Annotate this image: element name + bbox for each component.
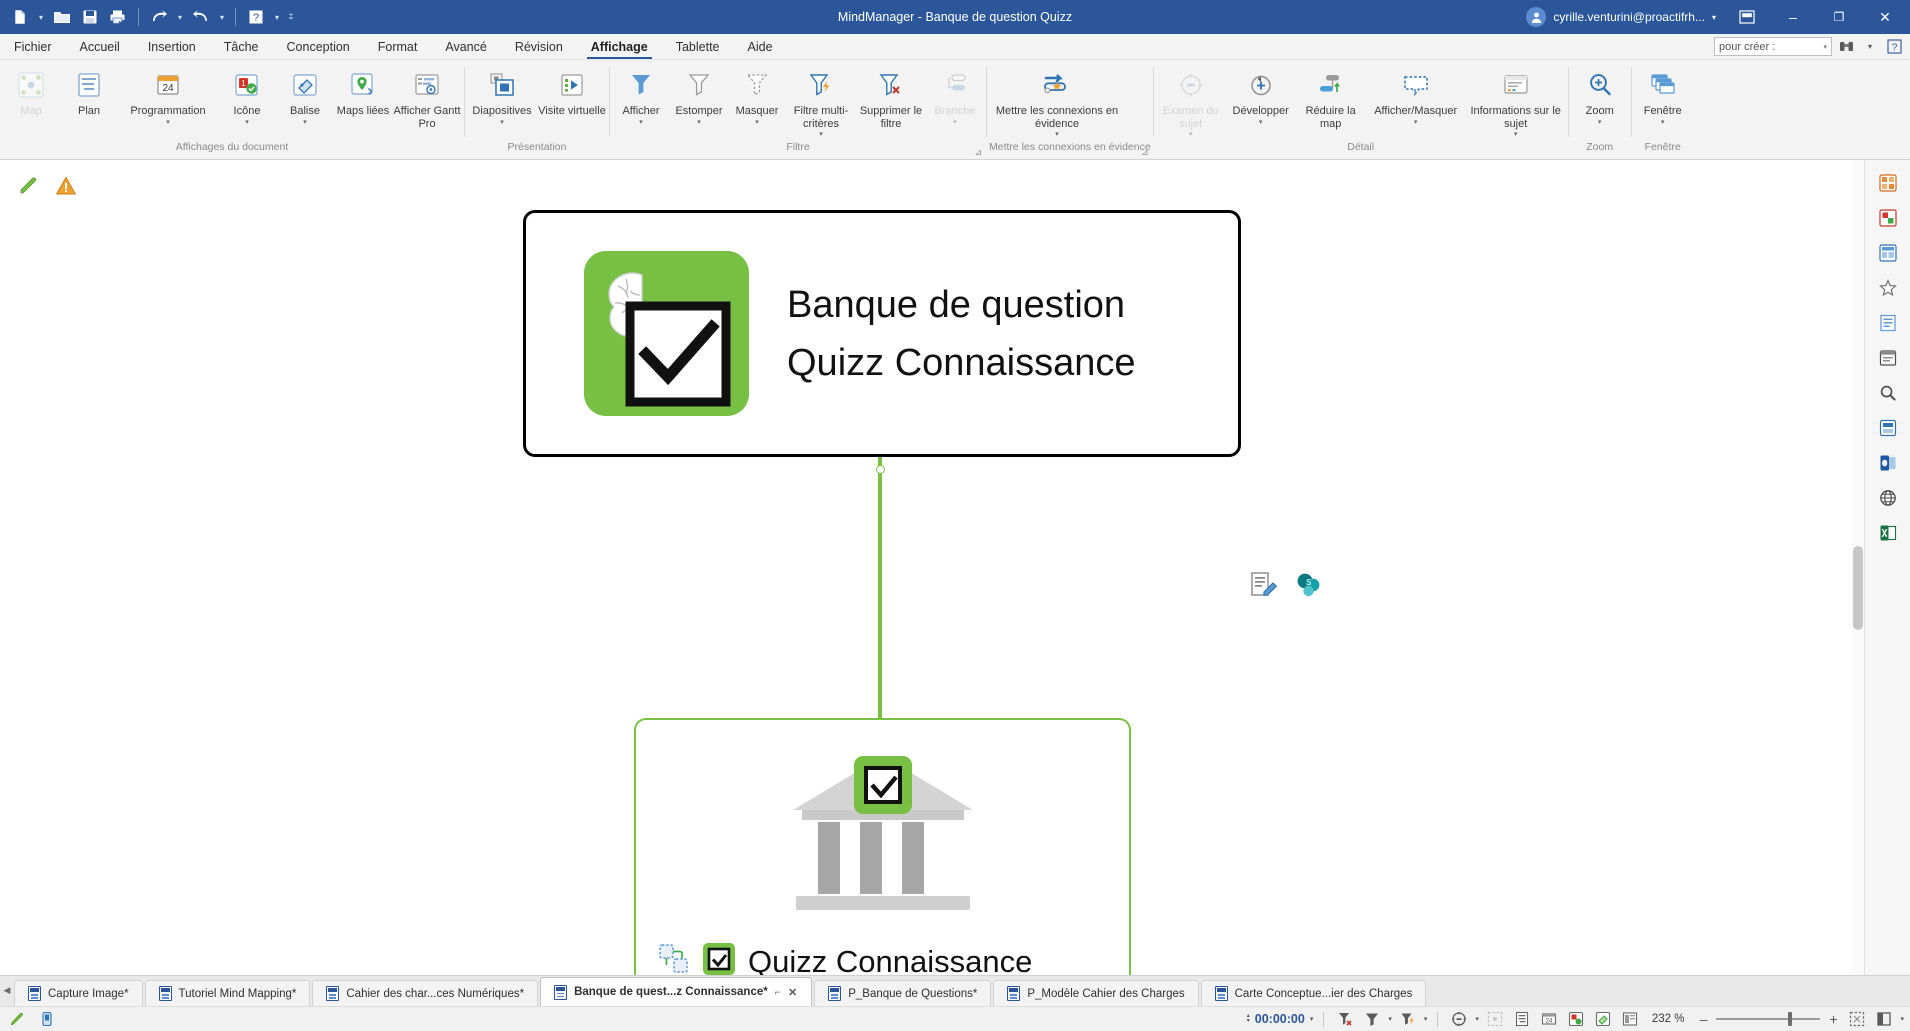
ribbon-button-reduire-la-map[interactable]: Réduire la map bbox=[1296, 65, 1366, 130]
help-caret[interactable]: ▾ bbox=[270, 4, 284, 30]
document-icon bbox=[326, 986, 339, 1001]
document-tab-label: P_Banque de Questions* bbox=[848, 988, 977, 1000]
zoom-percent-label: 232 % bbox=[1652, 1013, 1685, 1025]
root-topic-line-2: Quizz Connaissance bbox=[787, 334, 1136, 392]
status-separator-1 bbox=[1323, 1012, 1324, 1027]
document-tab-tutoriel-mind-mapping[interactable]: Tutoriel Mind Mapping* bbox=[145, 980, 311, 1006]
document-tab-p-modele-cahier-des-charges[interactable]: P_Modèle Cahier des Charges bbox=[993, 980, 1198, 1006]
ribbon-group-mettre-les-connexions-en-evidence: Mettre les connexions en évidence ▾ Mett… bbox=[987, 60, 1153, 159]
qat-separator-2 bbox=[235, 8, 236, 26]
zoom-out-button[interactable]: – bbox=[1695, 1011, 1711, 1027]
ribbon-group-detail: Examen du sujet ▾ Développer ▾ Réduire l… bbox=[1154, 60, 1568, 159]
document-tab-label: Cahier des char...ces Numériques* bbox=[346, 988, 524, 1000]
status-separator-2 bbox=[1437, 1012, 1438, 1027]
ribbon-button-branche[interactable]: Branche ▾ bbox=[926, 65, 984, 127]
ribbon-button-fenetre[interactable]: Fenêtre ▾ bbox=[1634, 65, 1692, 127]
touch-mode-button[interactable] bbox=[36, 1009, 58, 1029]
tab-format[interactable]: Format bbox=[364, 34, 432, 59]
touch-mode-icon bbox=[39, 1011, 55, 1027]
ribbon-label: Map bbox=[20, 105, 41, 118]
document-tab-carte-conceptuelle-cahier-des-charges[interactable]: Carte Conceptue...ier des Charges bbox=[1201, 980, 1427, 1006]
gantt-pro-icon bbox=[412, 68, 442, 102]
ribbon-label: Plan bbox=[78, 105, 100, 118]
ribbon-label: Estomper bbox=[675, 105, 722, 118]
ribbon-group-label: Zoom bbox=[1571, 138, 1629, 156]
properties-icon bbox=[1879, 349, 1897, 367]
calendar-24-icon: 24 bbox=[153, 68, 183, 102]
question-mark-icon: ? bbox=[248, 9, 264, 25]
map-canvas[interactable]: Banque de question Quizz Connaissance S bbox=[0, 160, 1864, 975]
windows-cascade-icon bbox=[1648, 68, 1678, 102]
connexions-dialog-launcher[interactable]: ⊿ bbox=[1141, 147, 1149, 158]
tab-aide[interactable]: Aide bbox=[734, 34, 787, 59]
qat-separator-1 bbox=[138, 8, 139, 26]
pen-highlighter-icon bbox=[17, 175, 39, 197]
tab-pin-icon[interactable]: ⌐ bbox=[775, 987, 780, 997]
save-disk-icon bbox=[82, 9, 98, 25]
slides-icon bbox=[487, 68, 517, 102]
ribbon-label: Zoom bbox=[1586, 105, 1614, 118]
outlook-icon bbox=[1879, 454, 1897, 472]
account-name: cyrille.venturini@proactifrh... bbox=[1553, 10, 1705, 24]
task-pane-library-button[interactable] bbox=[1875, 170, 1901, 196]
child-topic-node[interactable]: Quizz Connaissance bbox=[634, 718, 1131, 975]
print-document-button[interactable] bbox=[104, 4, 132, 30]
save-document-button[interactable] bbox=[76, 4, 104, 30]
ribbon-label: Mettre les connexions en évidence bbox=[990, 105, 1124, 130]
open-document-button[interactable] bbox=[48, 4, 76, 30]
document-icon bbox=[828, 986, 841, 1001]
document-tab-bar: ◀ Capture Image* Tutoriel Mind Mapping* … bbox=[0, 975, 1910, 1006]
document-tab-banque-de-question-quizz-connaissance[interactable]: Banque de quest...z Connaissance* ⌐ ✕ bbox=[540, 977, 812, 1006]
sharepoint-link-button[interactable]: S bbox=[1294, 570, 1324, 605]
svg-text:?: ? bbox=[1891, 43, 1897, 54]
power-filter-dropdown-caret[interactable]: ▾ bbox=[1424, 1015, 1428, 1023]
markers-icon bbox=[1879, 279, 1897, 297]
status-bar-right: ▴▾ 00:00:00 ▾ ▾ ▾ ▾ bbox=[1247, 1009, 1904, 1029]
fullscreen-icon bbox=[1876, 1011, 1892, 1027]
globe-icon bbox=[1879, 489, 1897, 507]
walkthrough-icon bbox=[557, 68, 587, 102]
account-button[interactable]: cyrille.venturini@proactifrh... ▾ bbox=[1518, 3, 1724, 31]
balance-map-button[interactable] bbox=[1448, 1009, 1470, 1029]
redo-arrow-icon bbox=[192, 9, 210, 25]
tag-view-button[interactable] bbox=[1592, 1009, 1614, 1029]
pen-mode-button[interactable] bbox=[6, 1009, 28, 1029]
warning-triangle-icon bbox=[55, 175, 77, 197]
ribbon-button-estomper[interactable]: Estomper ▾ bbox=[670, 65, 728, 127]
redo-button[interactable] bbox=[187, 4, 215, 30]
task-pane-outlook-button[interactable] bbox=[1875, 450, 1901, 476]
zoom-slider-thumb[interactable] bbox=[1788, 1012, 1792, 1026]
task-pane-markers-button[interactable] bbox=[1875, 275, 1901, 301]
canvas-quick-tools bbox=[16, 174, 78, 198]
excel-icon bbox=[1879, 524, 1897, 542]
root-topic-node[interactable]: Banque de question Quizz Connaissance bbox=[523, 210, 1241, 457]
tab-tablette[interactable]: Tablette bbox=[662, 34, 734, 59]
ribbon-label: Diapositives bbox=[472, 105, 531, 118]
task-pane-excel-button[interactable] bbox=[1875, 520, 1901, 546]
tab-scroll-prev-button[interactable]: ◀ bbox=[0, 975, 14, 1006]
pen-icon bbox=[9, 1011, 25, 1027]
quick-access-toolbar: ▾ ▾ ▾ ? ▾ ⩲ bbox=[0, 0, 298, 34]
show-hide-callout-icon bbox=[1400, 68, 1432, 102]
ribbon-label: Branche bbox=[935, 105, 976, 118]
icon-view-button[interactable] bbox=[1565, 1009, 1587, 1029]
ribbon-group-presentation: Diapositives ▾ Visite virtuelle Présenta… bbox=[465, 60, 609, 159]
search-icon bbox=[1879, 384, 1897, 402]
document-icon bbox=[159, 986, 172, 1001]
ribbon-display-options-button[interactable] bbox=[1724, 0, 1770, 34]
chevron-down-icon[interactable]: ▾ bbox=[245, 118, 249, 127]
ribbon-label: Développer bbox=[1233, 105, 1289, 118]
chevron-down-icon[interactable]: ▾ bbox=[166, 118, 170, 127]
slide-view-button[interactable] bbox=[1619, 1009, 1641, 1029]
document-icon bbox=[28, 986, 41, 1001]
avatar bbox=[1526, 7, 1546, 27]
filter-dropdown-caret[interactable]: ▾ bbox=[1388, 1015, 1392, 1023]
power-filter-status-button[interactable] bbox=[1397, 1009, 1419, 1029]
ribbon-group-affichages-du-document: Map Plan 24 Programmation ▾ bbox=[0, 60, 464, 159]
chevron-down-icon[interactable]: ▾ bbox=[303, 118, 307, 127]
funnel-filled-icon bbox=[626, 68, 656, 102]
close-button[interactable]: ✕ bbox=[1862, 0, 1908, 34]
task-pane-templates-button[interactable] bbox=[1875, 240, 1901, 266]
tab-conception[interactable]: Conception bbox=[273, 34, 364, 59]
tab-revision[interactable]: Révision bbox=[501, 34, 577, 59]
index-icon bbox=[1879, 314, 1897, 332]
map-parts-icon bbox=[1879, 209, 1897, 227]
search-binoculars-button[interactable] bbox=[1836, 37, 1856, 57]
ribbon-group-label: Mettre les connexions en évidence bbox=[989, 138, 1151, 156]
tab-fichier[interactable]: Fichier bbox=[0, 34, 66, 59]
chevron-down-icon[interactable]: ▾ bbox=[755, 118, 759, 127]
undo-caret[interactable]: ▾ bbox=[173, 4, 187, 30]
map-view-icon bbox=[16, 68, 46, 102]
chevron-down-icon[interactable]: ▾ bbox=[1414, 118, 1418, 127]
ribbon-group-zoom: Zoom ▾ Zoom bbox=[1569, 60, 1631, 159]
mindmanager-window: ▾ ▾ ▾ ? ▾ ⩲ Min bbox=[0, 0, 1910, 1031]
new-document-caret[interactable]: ▾ bbox=[34, 4, 48, 30]
chevron-down-icon[interactable]: ▾ bbox=[697, 118, 701, 127]
ribbon-group-label: Fenêtre bbox=[1634, 138, 1692, 156]
ribbon-label: Informations sur le sujet bbox=[1467, 105, 1565, 130]
minimize-button[interactable]: – bbox=[1770, 0, 1816, 34]
title-bar-right: cyrille.venturini@proactifrh... ▾ – ❐ ✕ bbox=[1518, 0, 1910, 34]
power-filter-icon bbox=[806, 68, 836, 102]
chevron-down-icon[interactable]: ▾ bbox=[1598, 118, 1602, 127]
ribbon-group-fenetre: Fenêtre ▾ Fenêtre bbox=[1632, 60, 1694, 159]
tab-avance[interactable]: Avancé bbox=[431, 34, 500, 59]
ribbon-label: Filtre multi-critères bbox=[787, 105, 855, 130]
task-pane-styles-button[interactable] bbox=[1875, 415, 1901, 441]
status-bar-left bbox=[6, 1009, 58, 1029]
printer-icon bbox=[109, 9, 127, 25]
title-bar: ▾ ▾ ▾ ? ▾ ⩲ Min bbox=[0, 0, 1910, 34]
document-tab-label: Tutoriel Mind Mapping* bbox=[179, 988, 297, 1000]
new-document-button[interactable] bbox=[6, 4, 34, 30]
expand-icon bbox=[1246, 68, 1276, 102]
ribbon-button-filtre-multi-criteres[interactable]: Filtre multi-critères ▾ bbox=[786, 65, 856, 139]
tab-close-icon[interactable]: ✕ bbox=[787, 986, 798, 999]
document-tab-cahier-des-charges-numeriques[interactable]: Cahier des char...ces Numériques* bbox=[312, 980, 538, 1006]
svg-text:24: 24 bbox=[162, 83, 174, 94]
ribbon-label: Afficher bbox=[622, 105, 659, 118]
ribbon-label: Programmation bbox=[130, 105, 205, 118]
tag-icon bbox=[290, 68, 320, 102]
filter-status-button[interactable] bbox=[1361, 1009, 1383, 1029]
redo-caret[interactable]: ▾ bbox=[215, 4, 229, 30]
pen-highlighter-button[interactable] bbox=[16, 174, 40, 198]
brain-checkbox-green-icon bbox=[584, 251, 749, 416]
styles-icon bbox=[1879, 419, 1897, 437]
ribbon-button-afficher-gantt-pro[interactable]: Afficher Gantt Pro bbox=[392, 65, 462, 130]
document-icon bbox=[554, 985, 567, 1000]
ribbon-button-programmation[interactable]: 24 Programmation ▾ bbox=[118, 65, 218, 127]
chevron-down-icon[interactable]: ▾ bbox=[500, 118, 504, 127]
fullscreen-button[interactable] bbox=[1873, 1009, 1895, 1029]
ribbon-group-label: Détail bbox=[1156, 138, 1566, 156]
document-tab-p-banque-de-questions[interactable]: P_Banque de Questions* bbox=[814, 980, 991, 1006]
fit-page-button[interactable] bbox=[1846, 1009, 1868, 1029]
binoculars-icon bbox=[1839, 40, 1854, 53]
bank-building-icon bbox=[788, 748, 978, 923]
ribbon-group-label: Affichages du document bbox=[2, 138, 462, 156]
gantt-24-icon: 24 bbox=[1541, 1011, 1557, 1027]
ribbon-group-label: Filtre bbox=[612, 138, 984, 156]
fullscreen-dropdown-caret[interactable]: ▾ bbox=[1900, 1015, 1904, 1023]
task-pane-index-button[interactable] bbox=[1875, 310, 1901, 336]
ribbon-button-masquer[interactable]: Masquer ▾ bbox=[728, 65, 786, 127]
tell-me-box[interactable]: pour créer : ▾ bbox=[1714, 37, 1832, 56]
chevron-down-icon[interactable]: ▾ bbox=[953, 118, 957, 127]
templates-icon bbox=[1879, 244, 1897, 262]
tab-accueil[interactable]: Accueil bbox=[66, 34, 134, 59]
tab-tache[interactable]: Tâche bbox=[210, 34, 273, 59]
fit-map-button[interactable] bbox=[1484, 1009, 1506, 1029]
chevron-down-icon[interactable]: ▾ bbox=[1259, 118, 1263, 127]
funnel-dashed-icon bbox=[742, 68, 772, 102]
zoom-slider-track[interactable] bbox=[1716, 1018, 1820, 1020]
ribbon-display-options-icon bbox=[1739, 10, 1755, 24]
relationship-marker-icon[interactable] bbox=[658, 943, 690, 975]
timer-spinner[interactable]: ▴▾ bbox=[1247, 1014, 1250, 1024]
funnel-outline-icon bbox=[684, 68, 714, 102]
ribbon-label: Afficher Gantt Pro bbox=[393, 105, 461, 130]
ribbon-button-developper[interactable]: Développer ▾ bbox=[1226, 65, 1296, 127]
tell-me-placeholder: pour créer : bbox=[1719, 41, 1775, 53]
svg-text:S: S bbox=[1306, 578, 1311, 587]
document-tab-label: Capture Image* bbox=[48, 988, 129, 1000]
funnel-icon bbox=[1364, 1011, 1380, 1027]
ribbon-button-afficher-masquer[interactable]: Afficher/Masquer ▾ bbox=[1366, 65, 1466, 127]
ribbon-group-filtre: Afficher ▾ Estomper ▾ Masquer ▾ bbox=[610, 60, 986, 159]
undo-button[interactable] bbox=[145, 4, 173, 30]
document-icon bbox=[1215, 986, 1228, 1001]
document-tab-capture-image[interactable]: Capture Image* bbox=[14, 980, 143, 1006]
document-tab-label: Banque de quest...z Connaissance* bbox=[574, 986, 768, 998]
note-edit-icon bbox=[1248, 570, 1278, 600]
outline-icon bbox=[1514, 1011, 1530, 1027]
svg-text:1: 1 bbox=[241, 79, 246, 88]
topic-info-icon bbox=[1501, 68, 1531, 102]
chevron-down-icon[interactable]: ▾ bbox=[639, 118, 643, 127]
warning-indicator-button[interactable] bbox=[54, 174, 78, 198]
new-document-icon bbox=[12, 9, 28, 25]
chevron-down-icon[interactable]: ▾ bbox=[1189, 130, 1193, 139]
ribbon-button-supprimer-le-filtre[interactable]: Supprimer le filtre bbox=[856, 65, 926, 130]
ribbon-label: Maps liées bbox=[337, 105, 390, 118]
document-tab-label: P_Modèle Cahier des Charges bbox=[1027, 988, 1184, 1000]
gantt-view-button[interactable]: 24 bbox=[1538, 1009, 1560, 1029]
child-topic-title: Quizz Connaissance bbox=[748, 944, 1032, 976]
ribbon-label: Réduire la map bbox=[1297, 105, 1365, 130]
svg-text:?: ? bbox=[253, 12, 259, 24]
task-pane-search-button[interactable] bbox=[1875, 380, 1901, 406]
timer-dropdown-caret[interactable]: ▾ bbox=[1310, 1015, 1314, 1023]
clear-filter-icon bbox=[1337, 1011, 1353, 1027]
ribbon-button-plan[interactable]: Plan bbox=[60, 65, 118, 118]
ribbon-button-mettre-les-connexions-en-evidence[interactable]: Mettre les connexions en évidence ▾ bbox=[989, 65, 1125, 139]
zoom-in-magnifier-icon bbox=[1585, 68, 1615, 102]
chevron-down-icon: ▾ bbox=[1712, 13, 1716, 22]
ribbon-tab-strip: Fichier Accueil Insertion Tâche Concepti… bbox=[0, 34, 1910, 60]
chevron-down-icon[interactable]: ▾ bbox=[1661, 118, 1665, 127]
status-bar: ▴▾ 00:00:00 ▾ ▾ ▾ ▾ bbox=[0, 1006, 1910, 1031]
document-icon bbox=[1007, 986, 1020, 1001]
ribbon-label: Visite virtuelle bbox=[538, 105, 606, 118]
ribbon: Map Plan 24 Programmation ▾ bbox=[0, 60, 1910, 160]
slide-view-icon bbox=[1622, 1011, 1638, 1027]
branch-icon bbox=[940, 68, 970, 102]
ribbon-button-informations-sur-le-sujet[interactable]: Informations sur le sujet ▾ bbox=[1466, 65, 1566, 139]
help-question-button[interactable]: ? bbox=[1884, 37, 1904, 57]
vertical-scrollbar-thumb[interactable] bbox=[1853, 546, 1863, 630]
ribbon-label: Fenêtre bbox=[1644, 105, 1682, 118]
child-topic-row: Quizz Connaissance bbox=[658, 942, 1032, 975]
session-timer: 00:00:00 bbox=[1255, 1012, 1305, 1026]
library-icon bbox=[1879, 174, 1897, 192]
ribbon-button-visite-virtuelle[interactable]: Visite virtuelle bbox=[537, 65, 607, 118]
root-topic-text: Banque de question Quizz Connaissance bbox=[787, 276, 1136, 392]
outline-view-button[interactable] bbox=[1511, 1009, 1533, 1029]
ribbon-button-maps-liees[interactable]: Maps liées bbox=[334, 65, 392, 118]
ribbon-button-examen-du-sujet[interactable]: Examen du sujet ▾ bbox=[1156, 65, 1226, 139]
tab-affichage[interactable]: Affichage bbox=[577, 34, 662, 59]
sharepoint-icon: S bbox=[1294, 570, 1324, 600]
help-button[interactable]: ? bbox=[242, 4, 270, 30]
ribbon-label: Balise bbox=[290, 105, 320, 118]
fit-map-icon bbox=[1487, 1011, 1503, 1027]
tag-view-icon bbox=[1595, 1011, 1611, 1027]
help-question-icon: ? bbox=[1887, 39, 1902, 54]
ribbon-label: Supprimer le filtre bbox=[857, 105, 925, 130]
chevron-down-icon[interactable]: ▾ bbox=[1860, 37, 1880, 57]
ribbon-button-icone[interactable]: 1 Icône ▾ bbox=[218, 65, 276, 127]
balance-icon bbox=[1451, 1011, 1467, 1027]
open-folder-icon bbox=[53, 9, 71, 25]
icon-marker-icon: 1 bbox=[232, 68, 262, 102]
ribbon-label: Icône bbox=[234, 105, 261, 118]
connector-root-to-child bbox=[878, 457, 882, 718]
chevron-down-icon: ▾ bbox=[1823, 43, 1827, 51]
icon-view-icon bbox=[1568, 1011, 1584, 1027]
tab-insertion[interactable]: Insertion bbox=[134, 34, 210, 59]
power-filter-icon bbox=[1400, 1011, 1416, 1027]
zoom-slider[interactable] bbox=[1716, 1018, 1820, 1020]
notes-attachment-button[interactable] bbox=[1248, 570, 1278, 605]
quiz-marker-icon[interactable] bbox=[702, 942, 736, 975]
root-topic-attachments: S bbox=[1248, 570, 1324, 605]
ribbon-button-diapositives[interactable]: Diapositives ▾ bbox=[467, 65, 537, 127]
zoom-in-button[interactable]: + bbox=[1825, 1011, 1841, 1027]
collapse-map-icon bbox=[1316, 68, 1346, 102]
clear-filter-status-button[interactable] bbox=[1334, 1009, 1356, 1029]
highlight-connections-icon bbox=[1040, 68, 1074, 102]
balance-dropdown-caret[interactable]: ▾ bbox=[1475, 1015, 1479, 1023]
ribbon-label: Masquer bbox=[736, 105, 779, 118]
linked-maps-pin-icon bbox=[348, 68, 378, 102]
ribbon-button-zoom[interactable]: Zoom ▾ bbox=[1571, 65, 1629, 127]
ribbon-label: Examen du sujet bbox=[1157, 105, 1225, 130]
ribbon-button-balise[interactable]: Balise ▾ bbox=[276, 65, 334, 127]
ribbon-strip-right: pour créer : ▾ ▾ ? bbox=[1714, 34, 1910, 59]
ribbon-label: Afficher/Masquer bbox=[1374, 105, 1457, 118]
document-tab-label: Carte Conceptue...ier des Charges bbox=[1235, 988, 1413, 1000]
fit-page-icon bbox=[1849, 1011, 1865, 1027]
task-pane-properties-button[interactable] bbox=[1875, 345, 1901, 371]
root-topic-line-1: Banque de question bbox=[787, 276, 1136, 334]
filtre-dialog-launcher[interactable]: ⊿ bbox=[974, 147, 982, 158]
undo-arrow-icon bbox=[150, 9, 168, 25]
svg-text:24: 24 bbox=[1546, 1018, 1553, 1024]
ribbon-group-label: Présentation bbox=[467, 138, 607, 156]
task-pane-map-parts-button[interactable] bbox=[1875, 205, 1901, 231]
clear-filter-icon bbox=[876, 68, 906, 102]
restore-button[interactable]: ❐ bbox=[1816, 0, 1862, 34]
topic-review-icon bbox=[1176, 68, 1206, 102]
right-task-pane-bar bbox=[1864, 160, 1910, 975]
connector-collapse-handle[interactable] bbox=[876, 465, 885, 474]
ribbon-button-map[interactable]: Map bbox=[2, 65, 60, 118]
outline-view-icon bbox=[74, 68, 104, 102]
ribbon-button-afficher[interactable]: Afficher ▾ bbox=[612, 65, 670, 127]
customize-quick-access-button[interactable]: ⩲ bbox=[284, 4, 298, 30]
task-pane-web-button[interactable] bbox=[1875, 485, 1901, 511]
